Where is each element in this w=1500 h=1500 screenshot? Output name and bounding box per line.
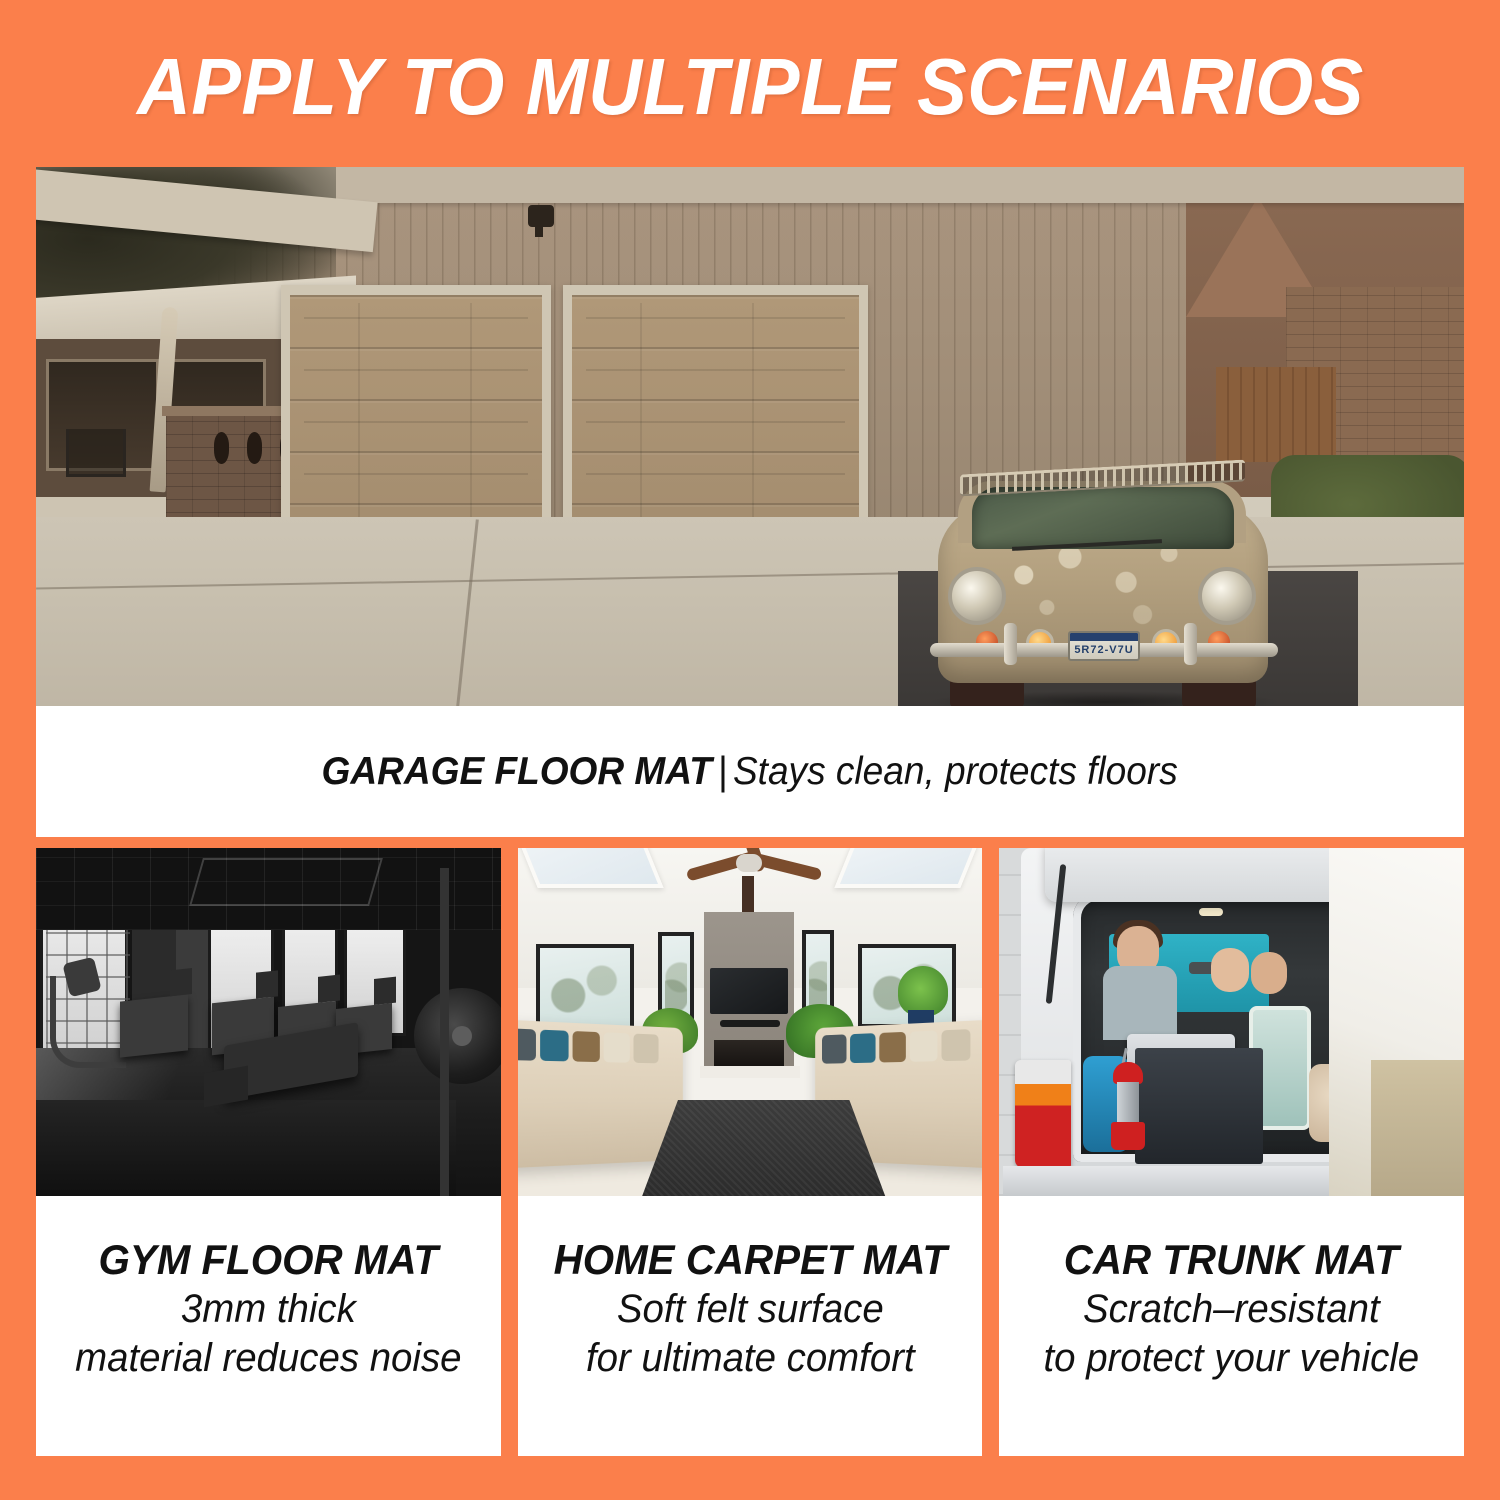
house-number-digit	[214, 432, 229, 464]
throw-pillow	[518, 1028, 536, 1060]
living-room-scene	[518, 848, 983, 1196]
rear-bumper	[1003, 1166, 1383, 1196]
dome-light-icon	[1199, 908, 1223, 916]
home-caption-line2: for ultimate comfort	[527, 1334, 973, 1383]
throw-pillow	[603, 1032, 629, 1062]
trunk-caption-line2: to protect your vehicle	[1009, 1334, 1455, 1383]
bumper-overrider	[1004, 623, 1017, 665]
throw-pillow	[822, 1034, 846, 1063]
elliptical-machine	[50, 976, 126, 1068]
home-carpet-mat	[638, 1100, 890, 1196]
home-caption-title: HOME CARPET MAT	[527, 1234, 973, 1285]
gym-scene	[36, 848, 501, 1196]
throw-pillow	[572, 1031, 599, 1062]
throw-pillow	[540, 1030, 568, 1062]
ceiling-fan-hub	[736, 854, 762, 872]
barbell-plate	[414, 988, 501, 1084]
wall-mounted-tv	[710, 968, 788, 1014]
soundbar	[720, 1020, 780, 1027]
home-caption: HOME CARPET MAT Soft felt surface for ul…	[518, 1196, 983, 1456]
fireplace-hearth	[700, 1066, 800, 1078]
car-trunk-scene	[999, 848, 1464, 1196]
garage-door-right	[563, 285, 868, 553]
trunk-caption-line1: Scratch–resistant	[1009, 1285, 1455, 1334]
fireplace-opening	[714, 1040, 784, 1066]
scenario-card-gym[interactable]: GYM FLOOR MAT 3mm thick material reduces…	[36, 848, 501, 1456]
scenario-card-home[interactable]: HOME CARPET MAT Soft felt surface for ul…	[518, 848, 983, 1456]
headlight	[1198, 567, 1256, 625]
vintage-car: 5R72-V7U	[916, 447, 1291, 706]
gym-caption-line2: material reduces noise	[45, 1334, 491, 1383]
lantern-glass	[1117, 1082, 1139, 1124]
gym-caption-line1: 3mm thick	[45, 1285, 491, 1334]
living-room-photo	[518, 848, 983, 1196]
page-title: APPLY TO MULTIPLE SCENARIOS	[137, 41, 1363, 133]
bumper-overrider	[1184, 623, 1197, 665]
girl-face	[1251, 952, 1287, 994]
tail-light	[1015, 1060, 1071, 1168]
lantern-base	[1111, 1122, 1145, 1150]
garage-caption: GARAGE FLOOR MAT|Stays clean, protects f…	[322, 750, 1178, 794]
trunk-caption-title: CAR TRUNK MAT	[1009, 1234, 1455, 1285]
car-trunk-photo	[999, 848, 1464, 1196]
treadmill	[120, 994, 188, 1057]
garage-caption-bar: GARAGE FLOOR MAT|Stays clean, protects f…	[36, 706, 1464, 837]
throw-pillow	[633, 1034, 658, 1064]
living-room-window	[536, 944, 634, 1032]
sofa	[518, 1019, 683, 1168]
gym-caption: GYM FLOOR MAT 3mm thick material reduces…	[36, 1196, 501, 1456]
garage-door-panels	[290, 295, 542, 553]
garage-caption-subtitle: Stays clean, protects floors	[733, 750, 1178, 793]
carpet-texture	[638, 1100, 890, 1196]
gym-floor-mat	[36, 1100, 456, 1196]
header-banner: APPLY TO MULTIPLE SCENARIOS	[0, 0, 1500, 167]
throw-pillow	[909, 1030, 937, 1061]
home-caption-line1: Soft felt surface	[527, 1285, 973, 1334]
garage-door-left	[281, 285, 551, 553]
throw-pillow	[850, 1033, 875, 1063]
security-light-icon	[528, 205, 554, 227]
gym-caption-title: GYM FLOOR MAT	[45, 1234, 491, 1285]
woman-face	[1211, 948, 1249, 992]
ceiling-hex-light	[189, 858, 383, 906]
lantern-top	[1113, 1062, 1143, 1084]
garage-door-panels	[572, 295, 859, 553]
scenario-card-trunk[interactable]: CAR TRUNK MAT Scratch–resistant to prote…	[999, 848, 1464, 1456]
scenario-card-row: GYM FLOOR MAT 3mm thick material reduces…	[36, 848, 1464, 1456]
garage-photo: 5R72-V7U	[36, 167, 1464, 706]
garage-caption-title: GARAGE FLOOR MAT	[322, 750, 712, 793]
house-number-digit	[247, 432, 262, 464]
license-plate: 5R72-V7U	[1068, 631, 1140, 661]
boy-body	[1103, 966, 1177, 1040]
outdoor-foliage	[543, 951, 627, 1025]
scenario-card-garage[interactable]: 5R72-V7U GARAGE FLOOR MAT|Stays clean, p…	[36, 167, 1464, 837]
headlight	[948, 567, 1006, 625]
patio-chair	[66, 429, 126, 477]
trunk-caption: CAR TRUNK MAT Scratch–resistant to prote…	[999, 1196, 1464, 1456]
skylight	[834, 848, 979, 888]
rear-hatch-door	[1045, 848, 1375, 902]
throw-pillow	[941, 1029, 970, 1061]
license-plate-number: 5R72-V7U	[1070, 641, 1138, 659]
car-trunk-mat	[1135, 1048, 1263, 1164]
throw-pillow	[879, 1032, 906, 1063]
license-plate-state	[1070, 633, 1138, 641]
gym-photo	[36, 848, 501, 1196]
squat-rack-post	[440, 868, 449, 1196]
car-windshield	[972, 487, 1234, 549]
camping-lantern	[1111, 1062, 1145, 1150]
skylight	[518, 848, 663, 888]
house-plant	[898, 966, 948, 1016]
garage-caption-separator: |	[712, 750, 733, 793]
standing-person-pants	[1371, 1060, 1464, 1196]
